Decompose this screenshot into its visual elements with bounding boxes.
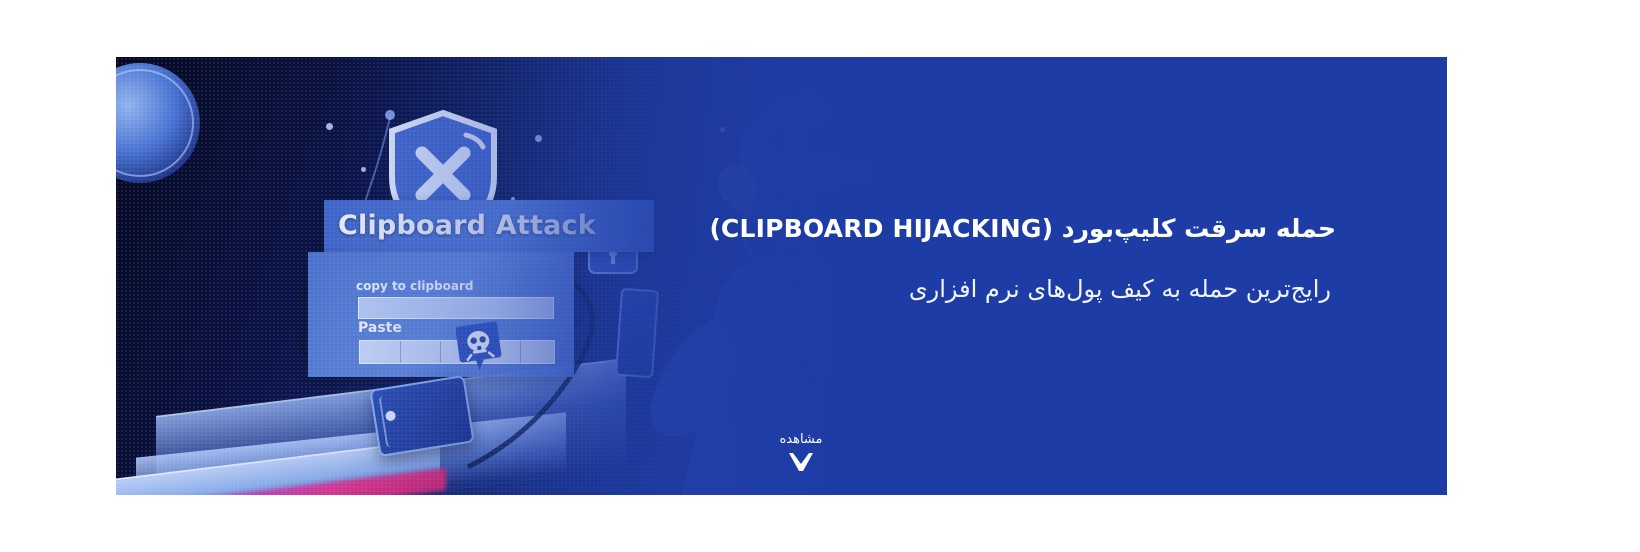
page-root: Clipboard Attack copy to clipboard Paste xyxy=(0,0,1640,552)
view-more-label: مشاهده xyxy=(741,432,861,447)
banner-headline: حمله سرقت کلیپ‌بورد (CLIPBOARD HIJACKING… xyxy=(709,214,1336,243)
banner-subhead: رایج‌ترین حمله به کیف پول‌های نرم افزاری xyxy=(909,275,1331,303)
hero-banner: Clipboard Attack copy to clipboard Paste xyxy=(116,57,1447,495)
view-more-button[interactable]: مشاهده xyxy=(741,432,861,477)
banner-content: حمله سرقت کلیپ‌بورد (CLIPBOARD HIJACKING… xyxy=(756,57,1447,495)
chevron-down-icon[interactable] xyxy=(787,451,815,473)
